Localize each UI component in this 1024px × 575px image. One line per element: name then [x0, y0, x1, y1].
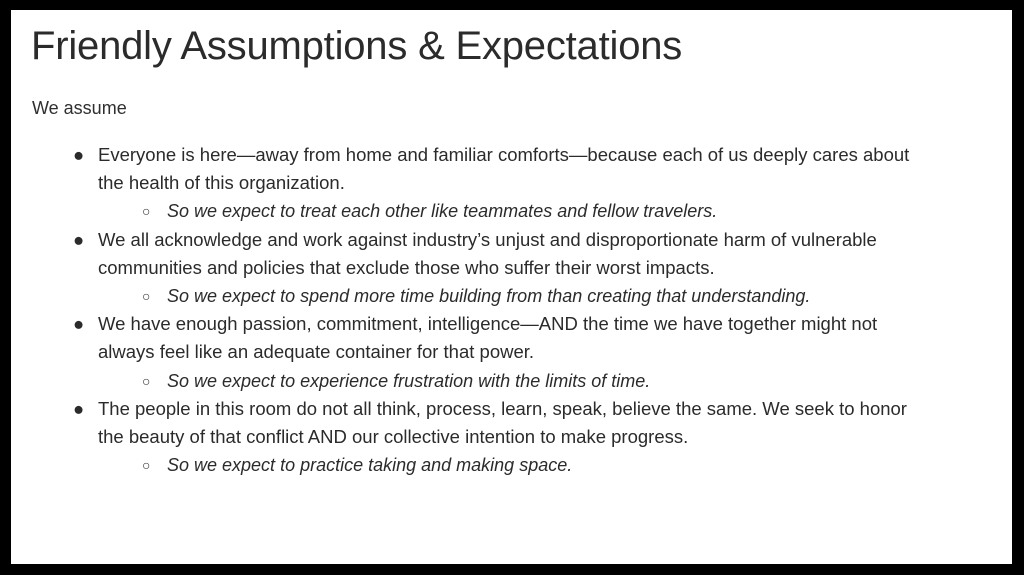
list-item-text: We have enough passion, commitment, inte…: [98, 313, 877, 362]
list-item: ● Everyone is here—away from home and fa…: [11, 141, 1012, 197]
sub-list-item: ○ So we expect to practice taking and ma…: [11, 451, 1012, 479]
circle-bullet-icon: ○: [142, 367, 156, 395]
sub-list-item: ○ So we expect to treat each other like …: [11, 197, 1012, 225]
list-item-text: We all acknowledge and work against indu…: [98, 229, 877, 278]
list-item: ● The people in this room do not all thi…: [11, 395, 1012, 451]
circle-bullet-icon: ○: [142, 197, 156, 225]
list-item: ● We have enough passion, commitment, in…: [11, 310, 1012, 366]
bullet-group: ● The people in this room do not all thi…: [11, 395, 1012, 480]
bullet-group: ● We have enough passion, commitment, in…: [11, 310, 1012, 395]
list-item: ● We all acknowledge and work against in…: [11, 226, 1012, 282]
disc-bullet-icon: ●: [73, 310, 87, 338]
sub-list-item-text: So we expect to practice taking and maki…: [167, 455, 572, 475]
sub-list-item: ○ So we expect to spend more time buildi…: [11, 282, 1012, 310]
circle-bullet-icon: ○: [142, 451, 156, 479]
list-item-text: The people in this room do not all think…: [98, 398, 907, 447]
bullet-group: ● We all acknowledge and work against in…: [11, 226, 1012, 311]
page-title: Friendly Assumptions & Expectations: [31, 23, 991, 70]
sub-list-item: ○ So we expect to experience frustration…: [11, 367, 1012, 395]
lead-in-text: We assume: [32, 96, 127, 120]
sub-list-item-text: So we expect to experience frustration w…: [167, 371, 650, 391]
disc-bullet-icon: ●: [73, 141, 87, 169]
bullet-list: ● Everyone is here—away from home and fa…: [11, 141, 1012, 479]
list-item-text: Everyone is here—away from home and fami…: [98, 144, 909, 193]
bullet-group: ● Everyone is here—away from home and fa…: [11, 141, 1012, 226]
disc-bullet-icon: ●: [73, 395, 87, 423]
slide-canvas: Friendly Assumptions & Expectations We a…: [11, 10, 1012, 564]
disc-bullet-icon: ●: [73, 226, 87, 254]
slide-frame: Friendly Assumptions & Expectations We a…: [0, 0, 1024, 575]
sub-list-item-text: So we expect to spend more time building…: [167, 286, 810, 306]
sub-list-item-text: So we expect to treat each other like te…: [167, 201, 717, 221]
circle-bullet-icon: ○: [142, 282, 156, 310]
